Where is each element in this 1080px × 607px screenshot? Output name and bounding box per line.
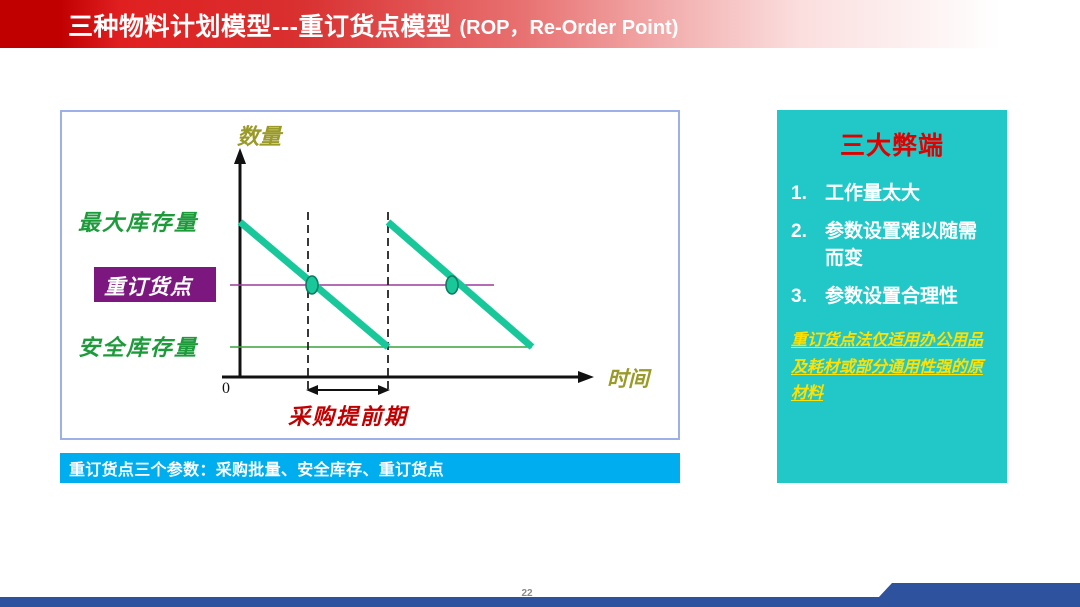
safety-stock-label: 安全库存量 xyxy=(78,335,199,360)
page-number: 22 xyxy=(512,588,542,599)
page-title: 三种物料计划模型---重订货点模型 (ROP，Re-Order Point) xyxy=(68,5,678,45)
reorder-point-badge-label: 重订货点 xyxy=(104,275,194,299)
reorder-intersection-marker-1 xyxy=(306,276,318,294)
chart-caption-bar: 重订货点三个参数：采购批量、安全库存、重订货点 xyxy=(60,453,680,483)
lead-time-label: 采购提前期 xyxy=(288,404,410,429)
drawback-item-3-text: 参数设置合理性 xyxy=(825,283,993,311)
drawback-item-1-number: 1. xyxy=(791,180,825,208)
inventory-chart-svg: 数量 时间 0 最大库存量 重订货点 安全库存量 xyxy=(62,112,678,438)
drawback-item-3: 3. 参数设置合理性 xyxy=(791,283,993,311)
x-axis-arrow xyxy=(578,371,594,383)
drawbacks-title: 三大弊端 xyxy=(791,126,993,162)
y-axis-label: 数量 xyxy=(237,124,284,149)
chart-caption-text: 重订货点三个参数：采购批量、安全库存、重订货点 xyxy=(69,456,444,480)
drawback-item-2-text: 参数设置难以随需而变 xyxy=(825,218,993,273)
inventory-chart-panel: 数量 时间 0 最大库存量 重订货点 安全库存量 xyxy=(60,110,680,440)
x-axis-label: 时间 xyxy=(607,367,652,391)
drawback-item-2: 2. 参数设置难以随需而变 xyxy=(791,218,993,273)
reorder-intersection-marker-2 xyxy=(446,276,458,294)
y-axis-arrow xyxy=(234,148,246,164)
drawbacks-note: 重订货点法仅适用办公用品及耗材或部分通用性强的原材料 xyxy=(791,328,993,407)
footer-wedge-decoration xyxy=(878,583,1080,598)
drawback-item-3-number: 3. xyxy=(791,283,825,311)
drawbacks-panel: 三大弊端 1. 工作量太大 2. 参数设置难以随需而变 3. 参数设置合理性 重… xyxy=(777,110,1007,483)
origin-label: 0 xyxy=(222,380,230,397)
max-inventory-label: 最大库存量 xyxy=(78,210,199,235)
drawback-item-1-text: 工作量太大 xyxy=(825,180,993,208)
drawback-item-1: 1. 工作量太大 xyxy=(791,180,993,208)
page-title-cn: 三种物料计划模型---重订货点模型 xyxy=(68,7,451,43)
header-accent-block xyxy=(0,0,58,48)
drawback-item-2-number: 2. xyxy=(791,218,825,246)
page-title-en: (ROP，Re-Order Point) xyxy=(459,11,678,40)
